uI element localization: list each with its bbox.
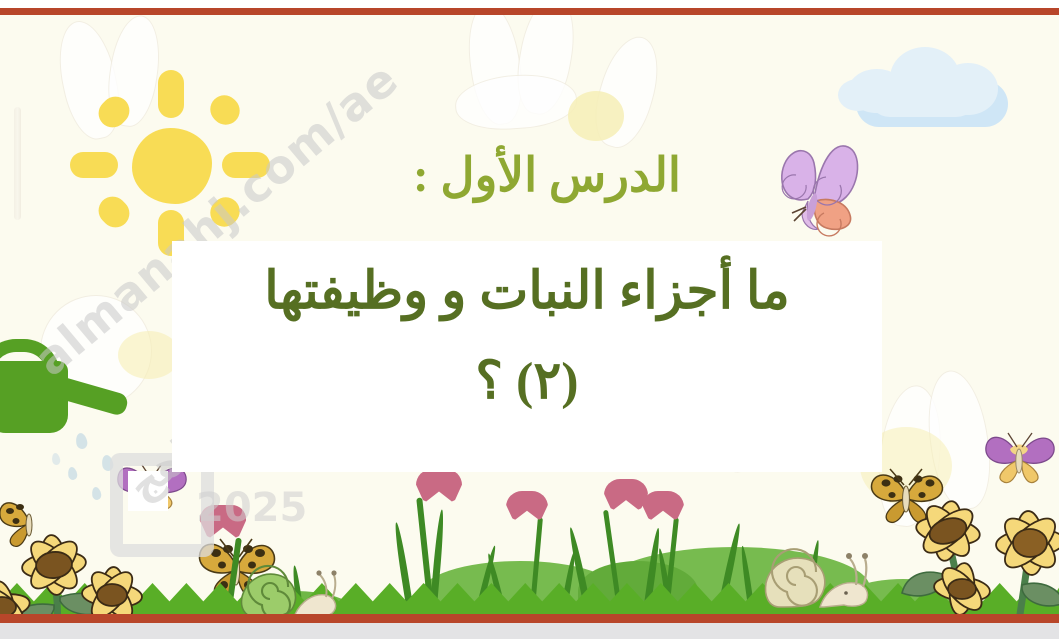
sun-icon <box>70 70 270 255</box>
top-accent-bar <box>0 8 1059 15</box>
bottom-accent-bar <box>0 614 1059 623</box>
lesson-title: الدرس الأول : <box>413 148 681 203</box>
slide-canvas: almanahj.com/ae 2025 المناهج الدرس الأول… <box>0 0 1059 639</box>
question-card: ما أجزاء النبات و وظيفتها (٢) ؟ <box>172 241 882 472</box>
question-line-1: ما أجزاء النبات و وظيفتها <box>202 261 852 321</box>
cloud-icon <box>838 47 1013 129</box>
tulip-flower <box>506 491 548 521</box>
snail-icon <box>762 535 874 614</box>
bottom-gray-strip <box>0 623 1059 639</box>
scrollbar-sliver[interactable] <box>14 107 21 220</box>
top-white-margin <box>0 0 1059 8</box>
watering-can-icon <box>0 333 120 453</box>
question-line-2: (٢) ؟ <box>202 351 852 411</box>
watermark-logo-inner <box>128 471 168 511</box>
snail-icon <box>238 555 344 614</box>
faded-daisy-center <box>568 91 624 141</box>
butterfly-icon <box>762 127 872 242</box>
slide-content: almanahj.com/ae 2025 المناهج الدرس الأول… <box>0 15 1059 614</box>
tulip-flower <box>642 491 684 521</box>
tulip-flower <box>416 469 462 503</box>
sunflower-icon <box>900 455 1059 614</box>
faded-daisy-center <box>118 331 180 379</box>
tulip-flower <box>604 479 648 511</box>
